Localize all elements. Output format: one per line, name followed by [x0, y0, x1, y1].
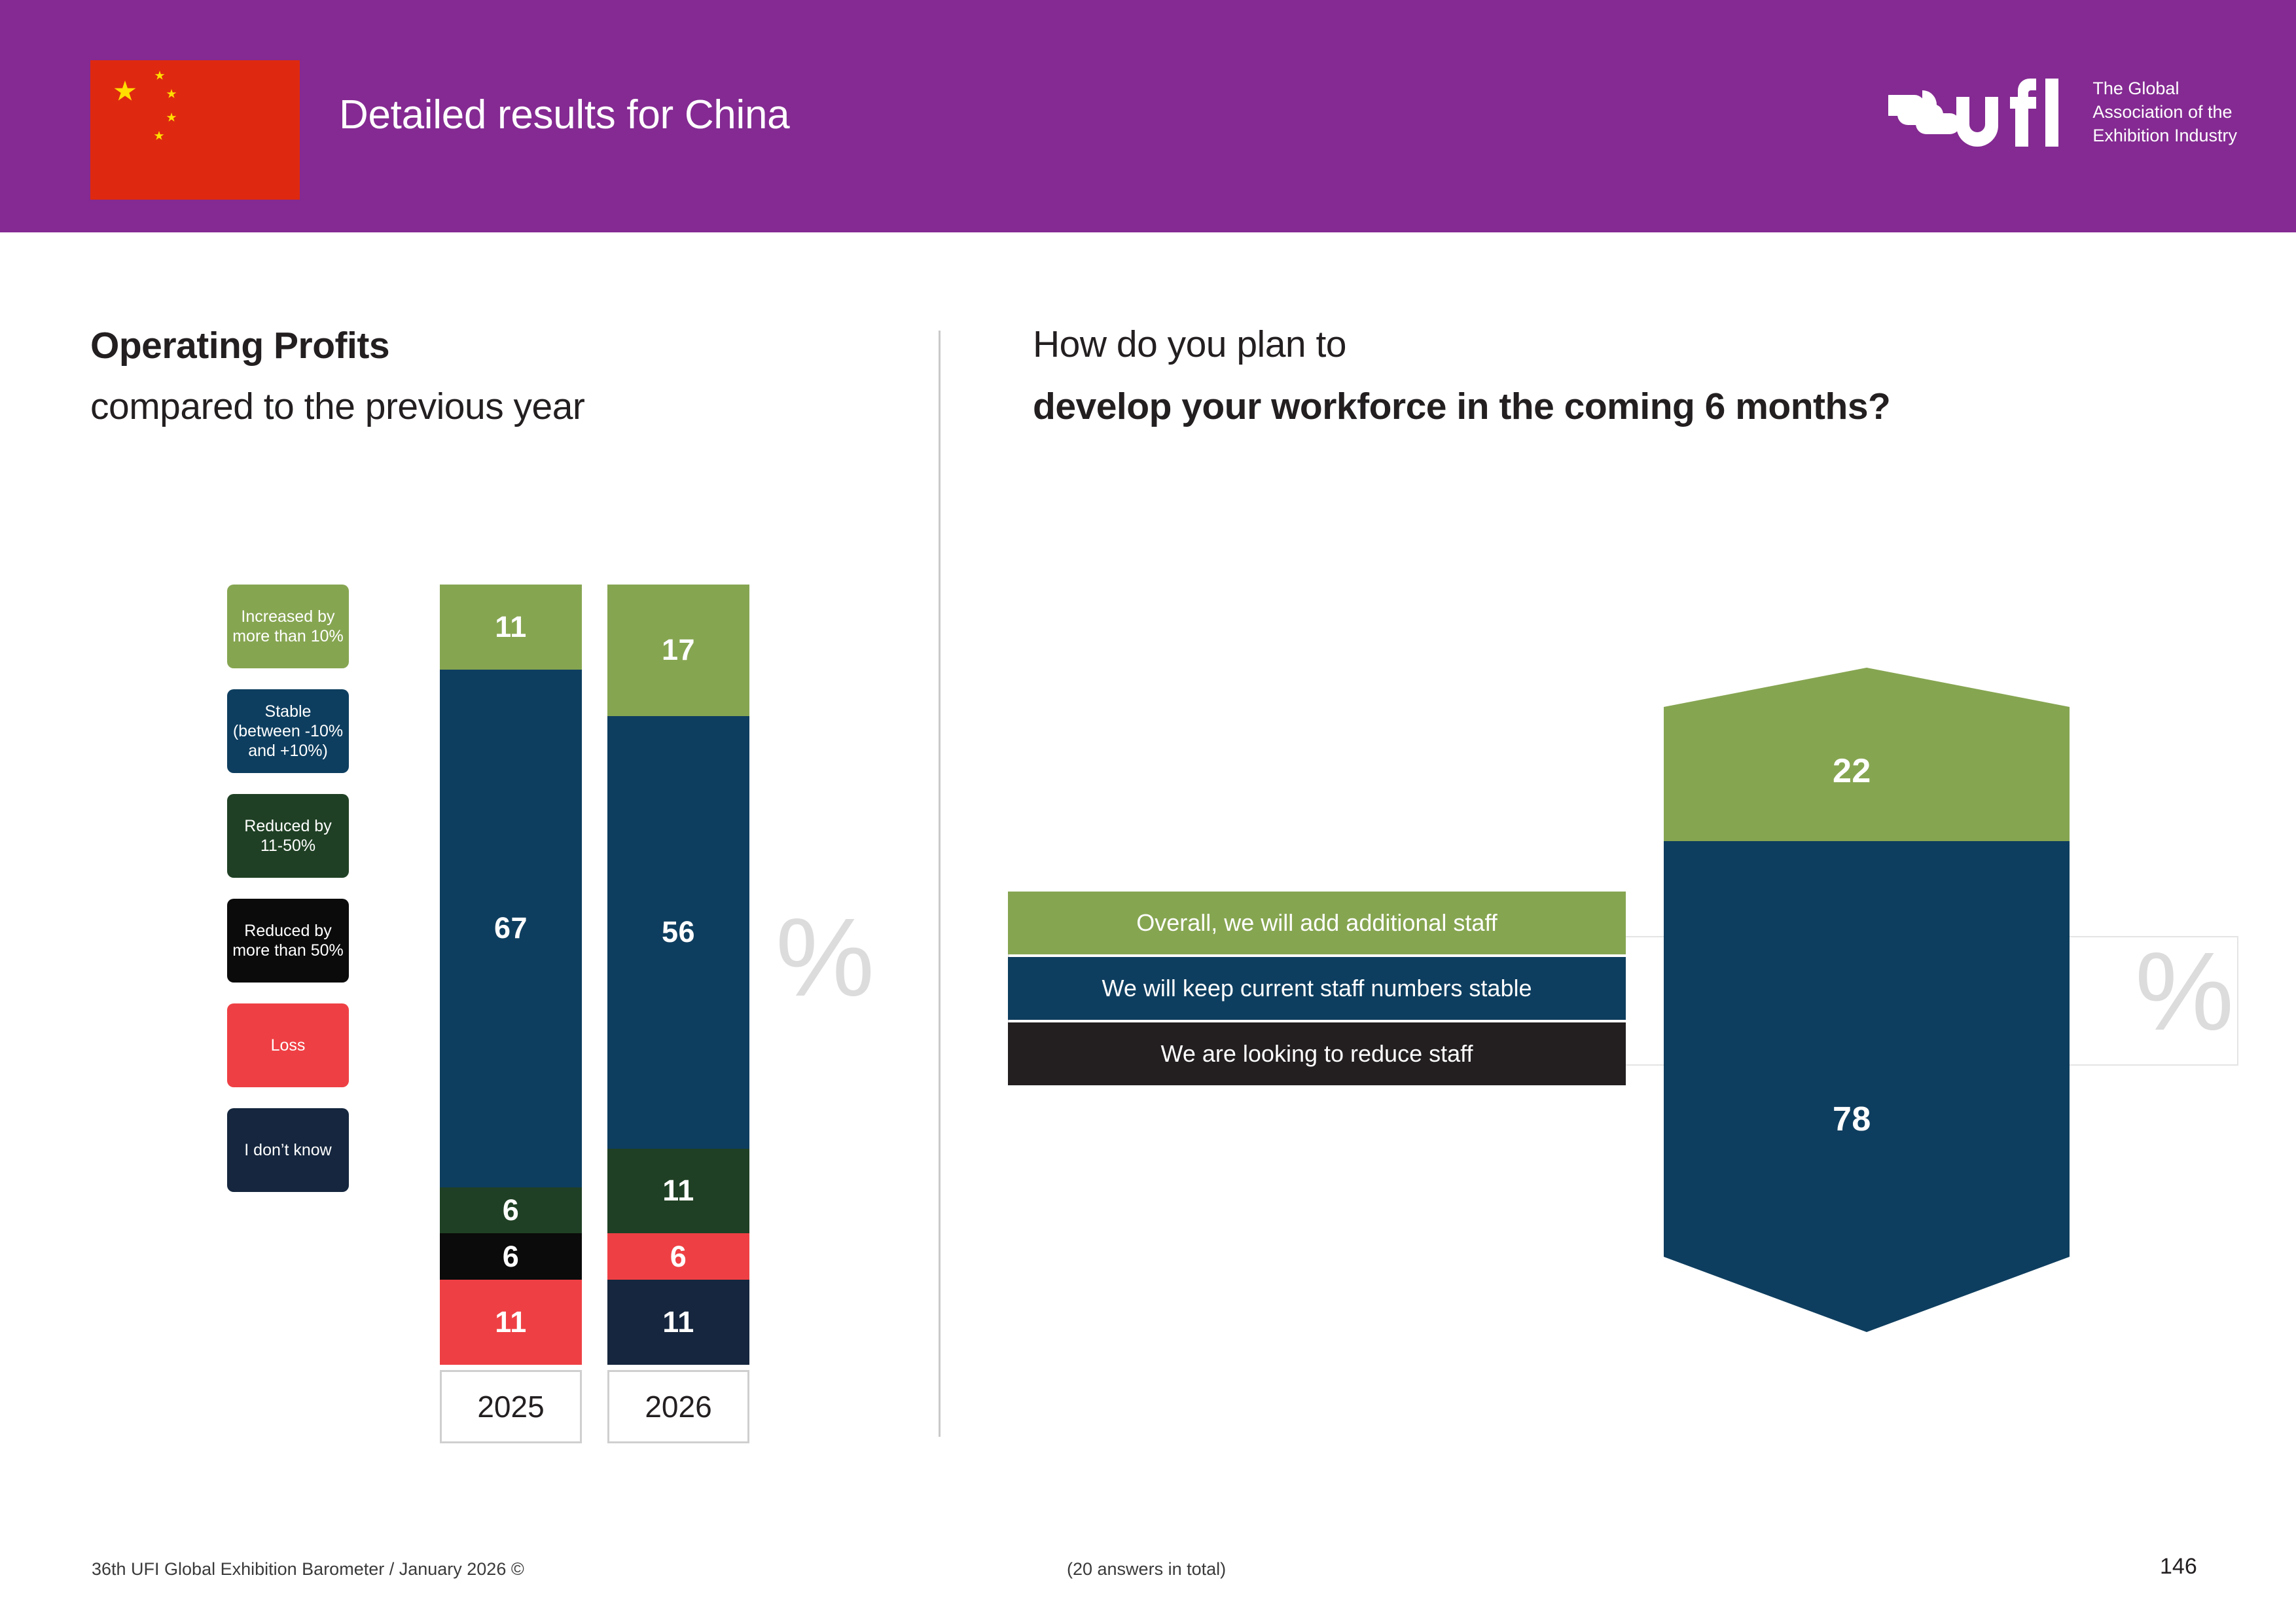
- pentagon-segment-label-add-staff: 22: [1833, 751, 1871, 791]
- bar-segment-label: 56: [662, 915, 695, 949]
- left-chart-title-bold: Operating Profits: [90, 324, 389, 367]
- bar-segment-label: 11: [495, 610, 527, 644]
- bar-segment: 17: [607, 585, 749, 716]
- footer-page-number: 146: [2160, 1554, 2197, 1579]
- legend-item-keep-staff-stable: We will keep current staff numbers stabl…: [1008, 957, 1626, 1020]
- page-header: Detailed results for China: [0, 0, 2296, 232]
- bar-segment: 6: [607, 1233, 749, 1280]
- footer-answer-count: (20 answers in total): [1067, 1559, 1226, 1579]
- bar-segment-label: 17: [662, 633, 695, 667]
- bar-segment-label: 11: [495, 1305, 527, 1339]
- ufi-wordmark-icon: [1888, 77, 2078, 149]
- tagline-line-2: Association of the: [2092, 101, 2237, 124]
- ufi-logo: The Global Association of the Exhibition…: [1888, 77, 2237, 149]
- bar-segment: 6: [440, 1233, 582, 1280]
- bar-category-label-2025: 2025: [440, 1370, 582, 1443]
- bar-segment: 11: [607, 1280, 749, 1365]
- bar-segment: 11: [440, 1280, 582, 1365]
- tagline-line-3: Exhibition Industry: [2092, 124, 2237, 148]
- stacked-bar-2025: 11676611: [440, 585, 582, 1365]
- legend-item-increased-more-than-10: Increased by more than 10%: [227, 585, 349, 668]
- right-percent-symbol: %: [2135, 936, 2234, 1047]
- bar-segment-label: 6: [670, 1240, 687, 1274]
- legend-item-stable: Stable (between -10% and +10%): [227, 689, 349, 773]
- ufi-logo-tagline: The Global Association of the Exhibition…: [2092, 77, 2237, 149]
- left-chart-subtitle: compared to the previous year: [90, 385, 584, 428]
- bar-segment: 56: [607, 716, 749, 1149]
- pentagon-segment-label-stable: 78: [1833, 1100, 1871, 1139]
- bar-segment-label: 6: [503, 1240, 520, 1274]
- tagline-line-1: The Global: [2092, 77, 2237, 101]
- bar-segment-label: 6: [503, 1193, 520, 1227]
- right-chart-title-regular: How do you plan to: [1033, 323, 1346, 366]
- right-chart-title-bold: develop your workforce in the coming 6 m…: [1033, 385, 1890, 428]
- stacked-bar-2026: 175611611: [607, 585, 749, 1365]
- bar-segment-label: 11: [662, 1305, 694, 1339]
- bar-segment-label: 67: [494, 911, 528, 945]
- bar-segment: 11: [607, 1149, 749, 1234]
- left-percent-symbol: %: [776, 902, 874, 1013]
- legend-item-add-additional-staff: Overall, we will add additional staff: [1008, 892, 1626, 954]
- legend-item-reduced-more-than-50: Reduced by more than 50%: [227, 899, 349, 983]
- china-flag-icon: [90, 60, 300, 200]
- bar-segment: 11: [440, 585, 582, 670]
- footer-source-text: 36th UFI Global Exhibition Barometer / J…: [92, 1559, 524, 1579]
- legend-item-dont-know: I don’t know: [227, 1108, 349, 1192]
- legend-item-reduced-11-50: Reduced by 11-50%: [227, 794, 349, 878]
- bar-segment: 6: [440, 1187, 582, 1234]
- bar-segment-label: 11: [662, 1174, 694, 1208]
- callout-rule-right: [2237, 936, 2238, 1064]
- panel-divider: [939, 331, 941, 1437]
- page-title: Detailed results for China: [339, 92, 789, 138]
- left-chart-legend: Increased by more than 10% Stable (betwe…: [227, 585, 349, 1192]
- right-chart-legend: Overall, we will add additional staff We…: [1008, 892, 1626, 1085]
- legend-item-loss: Loss: [227, 1003, 349, 1087]
- bar-segment: 67: [440, 670, 582, 1187]
- bar-category-label-2026: 2026: [607, 1370, 749, 1443]
- legend-item-reduce-staff: We are looking to reduce staff: [1008, 1022, 1626, 1085]
